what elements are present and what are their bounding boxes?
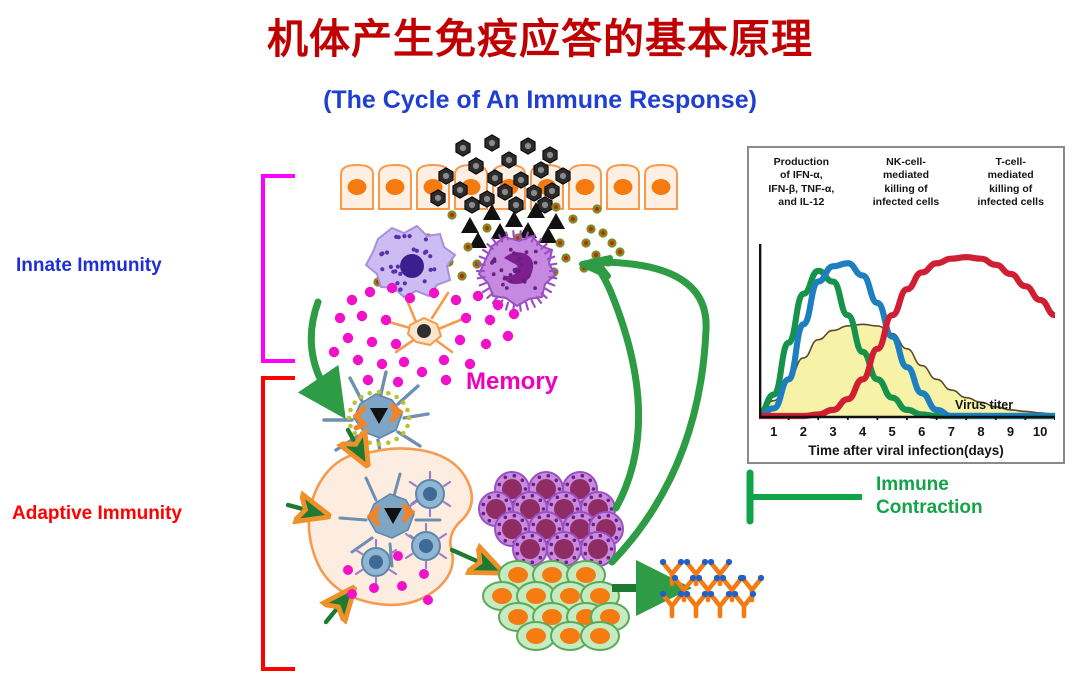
chart-annotations: Production of IFN-α, IFN-β, TNF-α, and I…: [749, 156, 1063, 210]
immune-contraction-line-2: Contraction: [876, 496, 983, 519]
dendritic-cell-migrating: [324, 372, 428, 462]
adaptive-immunity-bracket: [261, 376, 295, 671]
nk-cell: [477, 231, 557, 311]
dendritic-cell-in-node: [340, 474, 440, 566]
slide-canvas: 机体产生免疫应答的基本原理 (The Cycle of An Immune Re…: [0, 0, 1080, 695]
chart-x-axis-ticks: 12345678910: [759, 424, 1055, 439]
t-cells-in-node: [356, 472, 450, 584]
immune-contraction-connector: [750, 473, 862, 521]
epithelial-cell-layer: [341, 165, 677, 209]
danger-signal-dots: [373, 202, 624, 290]
virus-particles: [431, 135, 570, 213]
chart-x-tick: 7: [937, 424, 967, 439]
chart-annotation-t-cell: T-cell- mediated killing of infected cel…: [958, 156, 1063, 210]
plasma-b-cell-cluster: [483, 561, 629, 650]
lymph-node: [288, 430, 488, 622]
stellate-cell: [382, 293, 470, 352]
chart-plot-area: [759, 244, 1055, 420]
chart-virus-titer-label: Virus titer: [955, 398, 1013, 412]
immune-contraction-label: Immune Contraction: [876, 473, 983, 519]
chart-annotation-interferon: Production of IFN-α, IFN-β, TNF-α, and I…: [749, 156, 854, 210]
chart-x-tick: 8: [966, 424, 996, 439]
innate-to-adaptive-arrow: [311, 302, 330, 396]
chart-x-tick: 6: [907, 424, 937, 439]
adaptive-immunity-label: Adaptive Immunity: [12, 503, 182, 525]
activated-t-cell-cluster: [479, 472, 623, 566]
chart-x-tick: 4: [848, 424, 878, 439]
chart-x-tick: 10: [1025, 424, 1055, 439]
antigen-triangles: [461, 202, 565, 248]
memory-label: Memory: [466, 368, 558, 396]
innate-immunity-bracket: [261, 174, 295, 363]
chart-x-tick: 2: [789, 424, 819, 439]
cytokine-dots-node: [343, 551, 433, 605]
chart-x-tick: 9: [996, 424, 1026, 439]
chart-x-tick: 1: [759, 424, 789, 439]
page-title-chinese: 机体产生免疫应答的基本原理: [0, 18, 1080, 61]
immune-cycle-arrows: [582, 258, 706, 562]
chart-x-tick: 3: [818, 424, 848, 439]
macrophage-cell: [366, 226, 455, 297]
innate-immunity-label: Innate Immunity: [16, 255, 162, 277]
antibody-cluster: [660, 559, 764, 616]
chart-x-tick: 5: [877, 424, 907, 439]
immune-kinetics-chart: Production of IFN-α, IFN-β, TNF-α, and I…: [747, 146, 1065, 464]
page-subtitle-english: (The Cycle of An Immune Response): [0, 86, 1080, 115]
chart-x-axis-label: Time after viral infection(days): [749, 443, 1063, 458]
immune-contraction-line-1: Immune: [876, 473, 983, 496]
chart-annotation-nk-cell: NK-cell- mediated killing of infected ce…: [854, 156, 959, 210]
